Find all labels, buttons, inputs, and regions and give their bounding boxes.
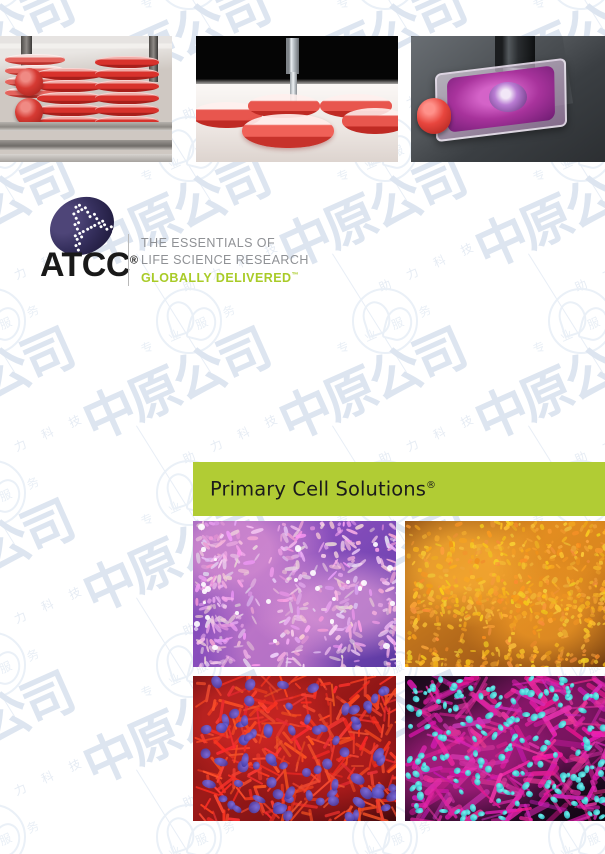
atcc-wordmark: ATCC® <box>40 248 138 282</box>
watermark-tile: 中原公司助 力 科 技专 业 服 务 <box>0 568 80 748</box>
cell-nucleus <box>498 694 504 700</box>
cell-feature <box>323 646 331 656</box>
watermark-logo-icon <box>0 460 26 526</box>
cell-feature <box>567 566 574 570</box>
photo-culture-flask-microscope <box>411 36 605 162</box>
cell-feature <box>407 635 412 640</box>
cell-feature <box>330 604 338 612</box>
cell-feature <box>536 628 543 632</box>
cell-feature <box>247 536 258 540</box>
cell-feature <box>510 534 514 538</box>
cell-feature <box>498 649 501 657</box>
cell-feature <box>582 521 589 529</box>
cell-feature <box>544 666 549 667</box>
cell-feature <box>355 665 363 667</box>
watermark-main-text: 中原公司 <box>76 322 276 449</box>
cell-feature <box>291 629 294 637</box>
cell-feature <box>553 610 561 615</box>
cell-feature <box>590 614 595 618</box>
cell-feature <box>435 543 442 547</box>
cell-feature <box>454 603 460 607</box>
cell-feature <box>414 524 421 531</box>
cell-feature <box>438 574 444 580</box>
cell-nucleus <box>531 735 540 744</box>
cell-membrane <box>196 681 206 684</box>
cell-feature <box>220 521 226 527</box>
watermark-main-text: 中原公司 <box>468 322 605 449</box>
cell-feature <box>417 600 421 604</box>
cell-feature <box>277 609 284 613</box>
cell-feature <box>554 524 559 529</box>
watermark-tertiary-text: 专 业 服 务 <box>530 298 605 358</box>
watermark-main-text: 中原公司 <box>468 150 605 277</box>
cell-feature <box>406 553 410 558</box>
cell-feature <box>580 564 586 571</box>
cell-feature <box>594 659 600 665</box>
cell-membrane <box>349 754 359 758</box>
cell-feature <box>539 523 545 530</box>
cell-feature <box>582 649 587 654</box>
watermark-slash <box>332 0 407 29</box>
cell-feature <box>372 620 381 625</box>
watermark-main-text: 中原公司 <box>0 666 80 793</box>
cell-feature <box>519 654 524 660</box>
cell-feature <box>582 653 586 656</box>
cell-nucleus <box>407 723 414 730</box>
cell-feature <box>394 661 396 667</box>
atcc-wordmark-text: ATCC <box>40 246 130 284</box>
watermark-secondary-text: 助 力 科 技 <box>0 580 90 640</box>
cell-feature <box>561 612 564 620</box>
cell-feature <box>588 585 592 589</box>
cell-feature <box>519 664 523 667</box>
cell-feature <box>407 660 413 663</box>
cell-feature <box>353 603 358 609</box>
cell-feature <box>251 544 258 550</box>
cell-membrane <box>194 700 206 709</box>
cell-feature <box>586 559 590 563</box>
cell-nucleus <box>411 695 420 704</box>
cell-nucleus <box>537 760 544 767</box>
tagline-line-1: THE ESSENTIALS OF <box>141 235 309 252</box>
cell-nucleus <box>240 715 248 726</box>
page-title: Primary Cell Solutions® <box>210 478 436 501</box>
cell-feature <box>387 565 393 571</box>
cell-feature <box>563 542 571 547</box>
cell-feature <box>479 524 484 529</box>
cell-feature <box>459 546 464 550</box>
cell-feature <box>518 523 521 526</box>
cell-feature <box>444 574 449 577</box>
cell-feature <box>421 534 427 540</box>
watermark-slash <box>528 253 603 372</box>
cell-feature <box>298 607 308 611</box>
cell-feature <box>503 607 507 610</box>
cell-feature <box>487 531 493 539</box>
cell-feature <box>297 588 301 593</box>
cell-feature <box>368 589 372 596</box>
tagline-line-2: LIFE SCIENCE RESEARCH <box>141 252 309 269</box>
cell-feature <box>373 542 378 547</box>
cell-feature <box>545 580 549 586</box>
cell-feature <box>450 586 454 590</box>
watermark-logo-icon <box>548 0 605 10</box>
cell-feature <box>235 603 241 607</box>
cell-feature <box>393 620 396 625</box>
cell-feature <box>572 530 580 536</box>
cell-feature <box>584 638 590 643</box>
watermark-slash <box>0 0 15 29</box>
cell-feature <box>290 615 295 624</box>
cell-feature <box>435 594 440 599</box>
cell-feature <box>454 521 463 527</box>
cell-nucleus <box>485 766 492 774</box>
cell-feature <box>587 596 591 599</box>
cell-feature <box>524 596 527 600</box>
cell-feature <box>324 635 327 640</box>
watermark-tile: 中原公司助 力 科 技专 业 服 务 <box>468 224 605 404</box>
watermark-tile: 中原公司助 力 科 技专 业 服 务 <box>0 740 80 854</box>
cell-feature <box>459 538 467 543</box>
watermark-logo-icon <box>0 632 26 698</box>
cell-membrane <box>253 784 267 788</box>
cell-feature <box>251 664 261 667</box>
cell-feature <box>460 638 466 644</box>
cell-feature <box>243 632 246 639</box>
watermark-slash <box>0 425 15 544</box>
cell-feature <box>409 615 414 619</box>
cell-feature <box>563 525 572 532</box>
cell-feature <box>273 639 277 643</box>
cell-nucleus <box>218 795 228 803</box>
cell-feature <box>369 597 376 607</box>
cell-feature <box>513 580 517 585</box>
cell-feature <box>295 592 302 605</box>
cell-feature <box>508 541 515 546</box>
micrograph-immunofluorescence-magenta-cyan <box>405 676 605 821</box>
watermark-secondary-text: 助 力 科 技 <box>0 408 90 468</box>
cell-feature <box>470 575 475 579</box>
cell-feature <box>436 626 441 631</box>
cell-feature <box>266 599 272 605</box>
cell-feature <box>552 618 556 621</box>
watermark-logo-icon <box>548 288 605 354</box>
watermark-secondary-text: 助 力 科 技 <box>376 408 482 468</box>
cell-feature <box>272 578 277 583</box>
cell-feature <box>511 632 515 635</box>
cell-feature <box>344 589 355 599</box>
cell-feature <box>447 624 455 631</box>
cell-feature <box>489 576 496 585</box>
cell-membrane <box>383 706 386 721</box>
cell-feature <box>253 553 260 562</box>
cell-feature <box>459 619 462 622</box>
cell-nucleus <box>405 703 415 713</box>
cell-feature <box>254 598 260 607</box>
cell-feature <box>320 553 326 558</box>
cell-feature <box>595 548 603 553</box>
cell-feature <box>198 524 204 530</box>
cell-feature <box>581 552 585 557</box>
cell-feature <box>354 660 360 663</box>
cell-feature <box>482 636 486 640</box>
watermark-tertiary-text: 专 业 服 务 <box>0 814 48 854</box>
cell-feature <box>475 550 483 556</box>
cell-feature <box>390 657 396 661</box>
cell-feature <box>355 541 361 546</box>
watermark-tertiary-text: 专 业 服 务 <box>138 0 244 14</box>
cell-feature <box>452 575 456 580</box>
cell-nucleus <box>435 698 442 704</box>
watermark-secondary-text: 助 力 科 技 <box>0 752 90 812</box>
cell-feature <box>526 575 531 580</box>
cell-feature <box>212 645 218 651</box>
cell-feature <box>287 576 293 580</box>
watermark-slash <box>0 597 15 716</box>
cell-feature <box>325 586 334 591</box>
cell-membrane <box>390 806 396 821</box>
cell-feature <box>357 559 367 569</box>
cell-feature <box>249 578 257 589</box>
cell-nucleus <box>553 752 558 758</box>
cell-feature <box>504 601 508 606</box>
cell-nucleus <box>486 687 491 692</box>
cell-feature <box>462 595 467 602</box>
cell-feature <box>425 547 428 551</box>
cell-feature <box>234 521 238 526</box>
cell-feature <box>405 524 410 528</box>
cell-feature <box>278 591 289 597</box>
cell-feature <box>495 562 500 566</box>
cell-membrane <box>395 712 396 723</box>
cytoskeleton-fiber <box>439 712 467 718</box>
cell-nucleus <box>439 808 448 813</box>
cell-feature <box>447 610 450 614</box>
cell-feature <box>217 646 227 649</box>
cell-feature <box>480 559 486 564</box>
cell-feature <box>317 629 328 632</box>
cell-feature <box>506 546 510 550</box>
cell-feature <box>286 638 290 644</box>
product-title-banner: Primary Cell Solutions® <box>193 462 605 516</box>
cell-feature <box>465 586 472 592</box>
cell-feature <box>371 610 377 616</box>
cell-feature <box>205 586 211 592</box>
watermark-logo-icon <box>156 0 222 10</box>
cell-nucleus <box>600 798 605 802</box>
cell-membrane <box>385 723 393 735</box>
cell-feature <box>563 521 568 525</box>
cell-feature <box>601 620 605 625</box>
cell-feature <box>335 634 342 641</box>
cell-feature <box>490 651 495 656</box>
micrograph-image-grid <box>193 521 605 821</box>
cell-feature <box>203 601 206 604</box>
cell-feature <box>418 594 421 598</box>
cell-feature <box>470 650 476 653</box>
cell-feature <box>483 641 489 648</box>
brochure-cover-page: ATCC® THE ESSENTIALS OF LIFE SCIENCE RES… <box>0 0 605 854</box>
cell-feature <box>385 586 395 592</box>
cell-feature <box>503 581 507 586</box>
cell-nucleus <box>538 813 546 820</box>
cell-feature <box>321 562 329 573</box>
cell-feature <box>484 539 489 544</box>
cell-feature <box>596 621 601 626</box>
cell-membrane <box>339 683 351 687</box>
cell-feature <box>443 663 447 667</box>
cell-feature <box>504 654 509 659</box>
cell-feature <box>315 586 320 591</box>
cell-feature <box>592 608 595 613</box>
watermark-main-text: 中原公司 <box>0 494 80 621</box>
tagline-line-3: GLOBALLY DELIVERED™ <box>141 268 309 287</box>
cell-feature <box>573 599 577 604</box>
cell-feature <box>317 542 325 554</box>
watermark-tile: 中原公司助 力 科 技专 业 服 务 <box>0 396 80 576</box>
cell-feature <box>341 654 344 659</box>
watermark-slash <box>136 0 211 29</box>
cell-feature <box>508 615 513 620</box>
cell-membrane <box>329 701 332 724</box>
cell-feature <box>537 555 542 561</box>
cell-feature <box>246 640 256 651</box>
cell-feature <box>352 609 356 620</box>
cell-feature <box>409 533 414 536</box>
cell-feature <box>595 569 601 575</box>
cell-nucleus <box>593 795 599 802</box>
cell-feature <box>531 664 537 667</box>
cell-feature <box>294 578 298 582</box>
cell-feature <box>576 557 580 565</box>
cell-membrane <box>394 800 396 810</box>
photo-petri-dish-stacks-incubator <box>0 36 172 162</box>
cell-feature <box>529 613 533 621</box>
cell-feature <box>469 664 474 667</box>
cell-feature <box>476 535 480 539</box>
cell-feature <box>234 644 244 648</box>
cell-feature <box>268 557 272 564</box>
cell-feature <box>496 576 500 583</box>
cell-feature <box>194 626 200 632</box>
cell-feature <box>378 602 383 607</box>
cell-membrane <box>228 817 240 821</box>
cytoskeleton-fiber <box>518 816 533 821</box>
cell-feature <box>427 573 436 577</box>
cell-feature <box>461 530 467 535</box>
cell-feature <box>544 565 548 569</box>
cell-nucleus <box>301 766 313 778</box>
cell-feature <box>537 632 540 638</box>
registered-trademark-icon: ® <box>130 255 138 267</box>
cell-feature <box>383 643 389 649</box>
watermark-logo-icon <box>0 0 26 10</box>
cell-feature <box>377 587 385 594</box>
cell-feature <box>333 550 339 558</box>
cell-feature <box>547 529 552 534</box>
cell-feature <box>511 548 516 556</box>
micrograph-immunofluorescence-red-blue <box>193 676 396 821</box>
cell-feature <box>201 547 205 551</box>
cell-membrane <box>325 818 332 821</box>
cell-feature <box>295 545 301 551</box>
watermark-tertiary-text: 专 业 服 务 <box>0 470 48 530</box>
cell-feature <box>358 586 363 591</box>
cell-feature <box>440 547 444 556</box>
cell-feature <box>501 574 505 578</box>
cell-feature <box>329 521 336 530</box>
cell-nucleus <box>417 792 424 801</box>
cell-feature <box>433 661 438 667</box>
cell-feature <box>328 655 340 661</box>
watermark-slash <box>0 769 15 854</box>
cell-feature <box>291 655 303 667</box>
cell-feature <box>388 522 396 530</box>
cell-feature <box>303 664 305 667</box>
cell-membrane <box>379 676 396 685</box>
cell-membrane <box>302 754 304 763</box>
cell-feature <box>471 538 475 542</box>
cell-feature <box>346 580 350 584</box>
cell-feature <box>243 560 256 566</box>
cell-feature <box>205 624 210 634</box>
cell-nucleus <box>472 750 477 757</box>
watermark-slash <box>0 253 15 372</box>
micrograph-phase-contrast-violet <box>193 521 396 667</box>
cell-feature <box>475 592 479 598</box>
watermark-secondary-text: 助 力 科 技 <box>180 408 286 468</box>
cell-feature <box>342 521 345 526</box>
cell-feature <box>285 656 289 667</box>
cell-feature <box>393 606 396 613</box>
atcc-tagline: THE ESSENTIALS OF LIFE SCIENCE RESEARCH … <box>141 235 309 287</box>
cell-feature <box>194 621 200 627</box>
watermark-tertiary-text: 专 业 服 务 <box>334 298 440 358</box>
cell-feature <box>316 531 322 539</box>
cell-nucleus <box>265 776 277 788</box>
cell-nucleus <box>431 756 438 763</box>
cell-feature <box>195 614 203 617</box>
cell-feature <box>551 541 554 544</box>
cell-feature <box>212 604 216 609</box>
cell-feature <box>203 571 209 575</box>
cell-feature <box>313 651 321 654</box>
cell-feature <box>221 617 226 621</box>
watermark-logo-icon <box>352 288 418 354</box>
cell-feature <box>452 532 459 539</box>
cytoskeleton-fiber <box>410 817 449 821</box>
micrograph-confluent-orange <box>405 521 605 667</box>
cell-membrane <box>295 682 302 689</box>
cell-feature <box>460 566 465 571</box>
cell-feature <box>235 611 239 615</box>
cell-feature <box>549 557 555 562</box>
cell-feature <box>357 620 362 632</box>
cell-feature <box>452 613 458 618</box>
cell-feature <box>419 660 426 667</box>
cell-feature <box>213 521 220 526</box>
trademark-icon: ™ <box>291 272 298 279</box>
cell-nucleus <box>477 810 485 817</box>
cell-feature <box>420 571 428 578</box>
cell-feature <box>304 625 311 633</box>
watermark-secondary-text: 助 力 科 技 <box>572 236 605 296</box>
top-photo-strip <box>0 36 605 162</box>
registered-trademark-icon: ® <box>426 480 436 491</box>
cell-feature <box>312 608 316 613</box>
cell-feature <box>515 607 521 613</box>
cell-feature <box>427 531 432 537</box>
